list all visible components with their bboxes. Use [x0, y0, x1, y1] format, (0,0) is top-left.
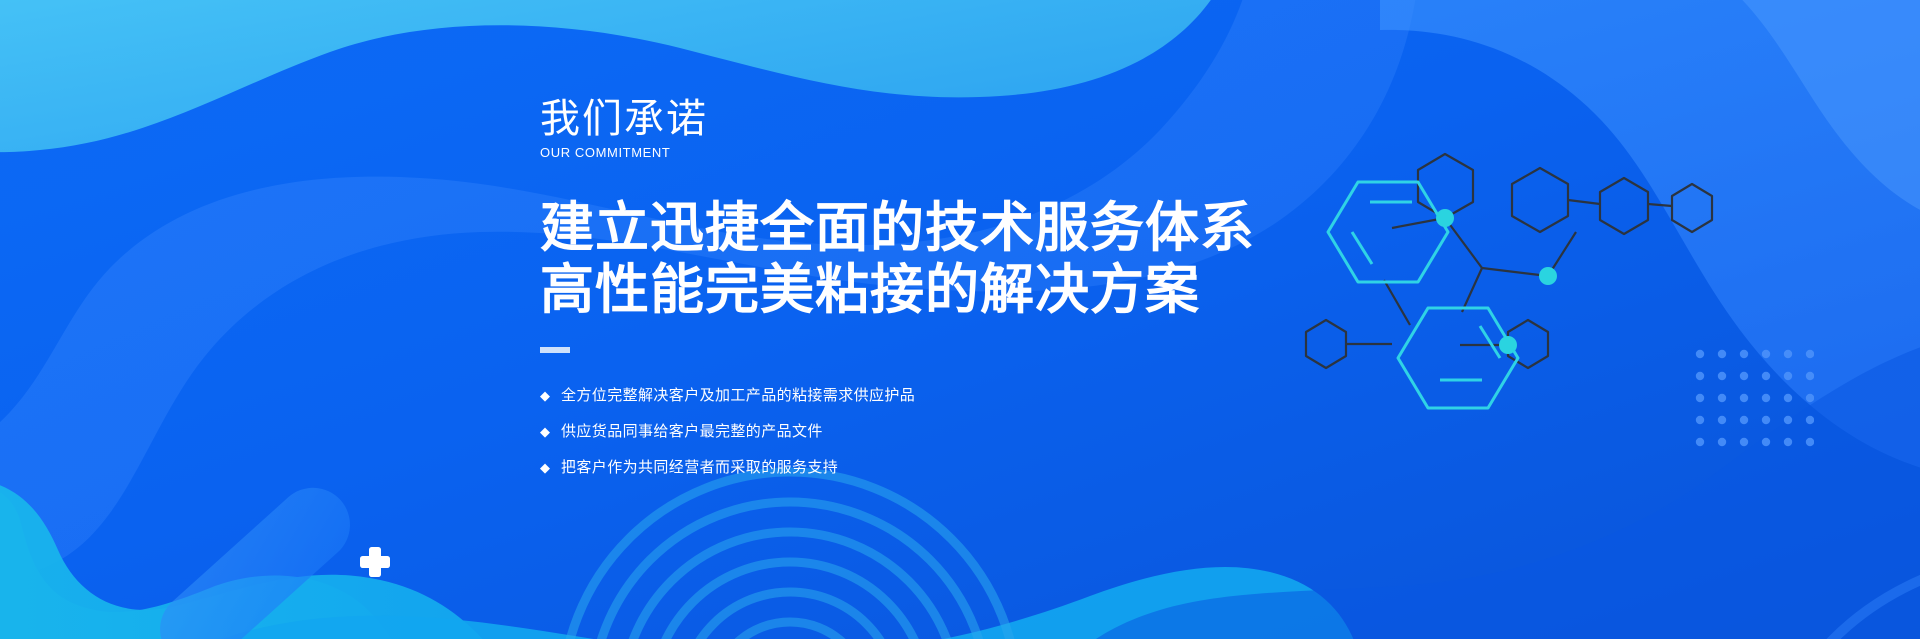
divider-rule: [540, 347, 570, 353]
list-item: ◆ 供应货品同事给客户最完整的产品文件: [540, 417, 1180, 446]
diamond-bullet-icon: ◆: [540, 389, 550, 402]
list-item: ◆ 全方位完整解决客户及加工产品的粘接需求供应护品: [540, 381, 1180, 410]
list-item-label: 全方位完整解决客户及加工产品的粘接需求供应护品: [561, 385, 915, 406]
eyebrow-title-cn: 我们承诺: [540, 96, 1180, 142]
diamond-bullet-icon: ◆: [540, 425, 550, 438]
diamond-bullet-icon: ◆: [540, 461, 550, 474]
promo-banner: 我们承诺 OUR COMMITMENT 建立迅捷全面的技术服务体系 高性能完美粘…: [0, 0, 1920, 639]
headline-group: 建立迅捷全面的技术服务体系 高性能完美粘接的解决方案: [540, 197, 1180, 321]
list-item-label: 把客户作为共同经营者而采取的服务支持: [561, 457, 838, 478]
list-item: ◆ 把客户作为共同经营者而采取的服务支持: [540, 453, 1180, 482]
plus-icon: [358, 545, 392, 579]
cyan-hexagon-upper: [1328, 182, 1448, 282]
cyan-hexagon-lower: [1398, 308, 1518, 408]
headline-line-2: 高性能完美粘接的解决方案: [540, 259, 1180, 321]
banner-content: 我们承诺 OUR COMMITMENT 建立迅捷全面的技术服务体系 高性能完美粘…: [540, 96, 1180, 489]
bullet-list: ◆ 全方位完整解决客户及加工产品的粘接需求供应护品 ◆ 供应货品同事给客户最完整…: [540, 381, 1180, 482]
dot-grid-icon: [1694, 348, 1814, 448]
list-item-label: 供应货品同事给客户最完整的产品文件: [561, 421, 823, 442]
headline-line-1: 建立迅捷全面的技术服务体系: [540, 197, 1180, 259]
eyebrow-title-en: OUR COMMITMENT: [540, 144, 1180, 161]
